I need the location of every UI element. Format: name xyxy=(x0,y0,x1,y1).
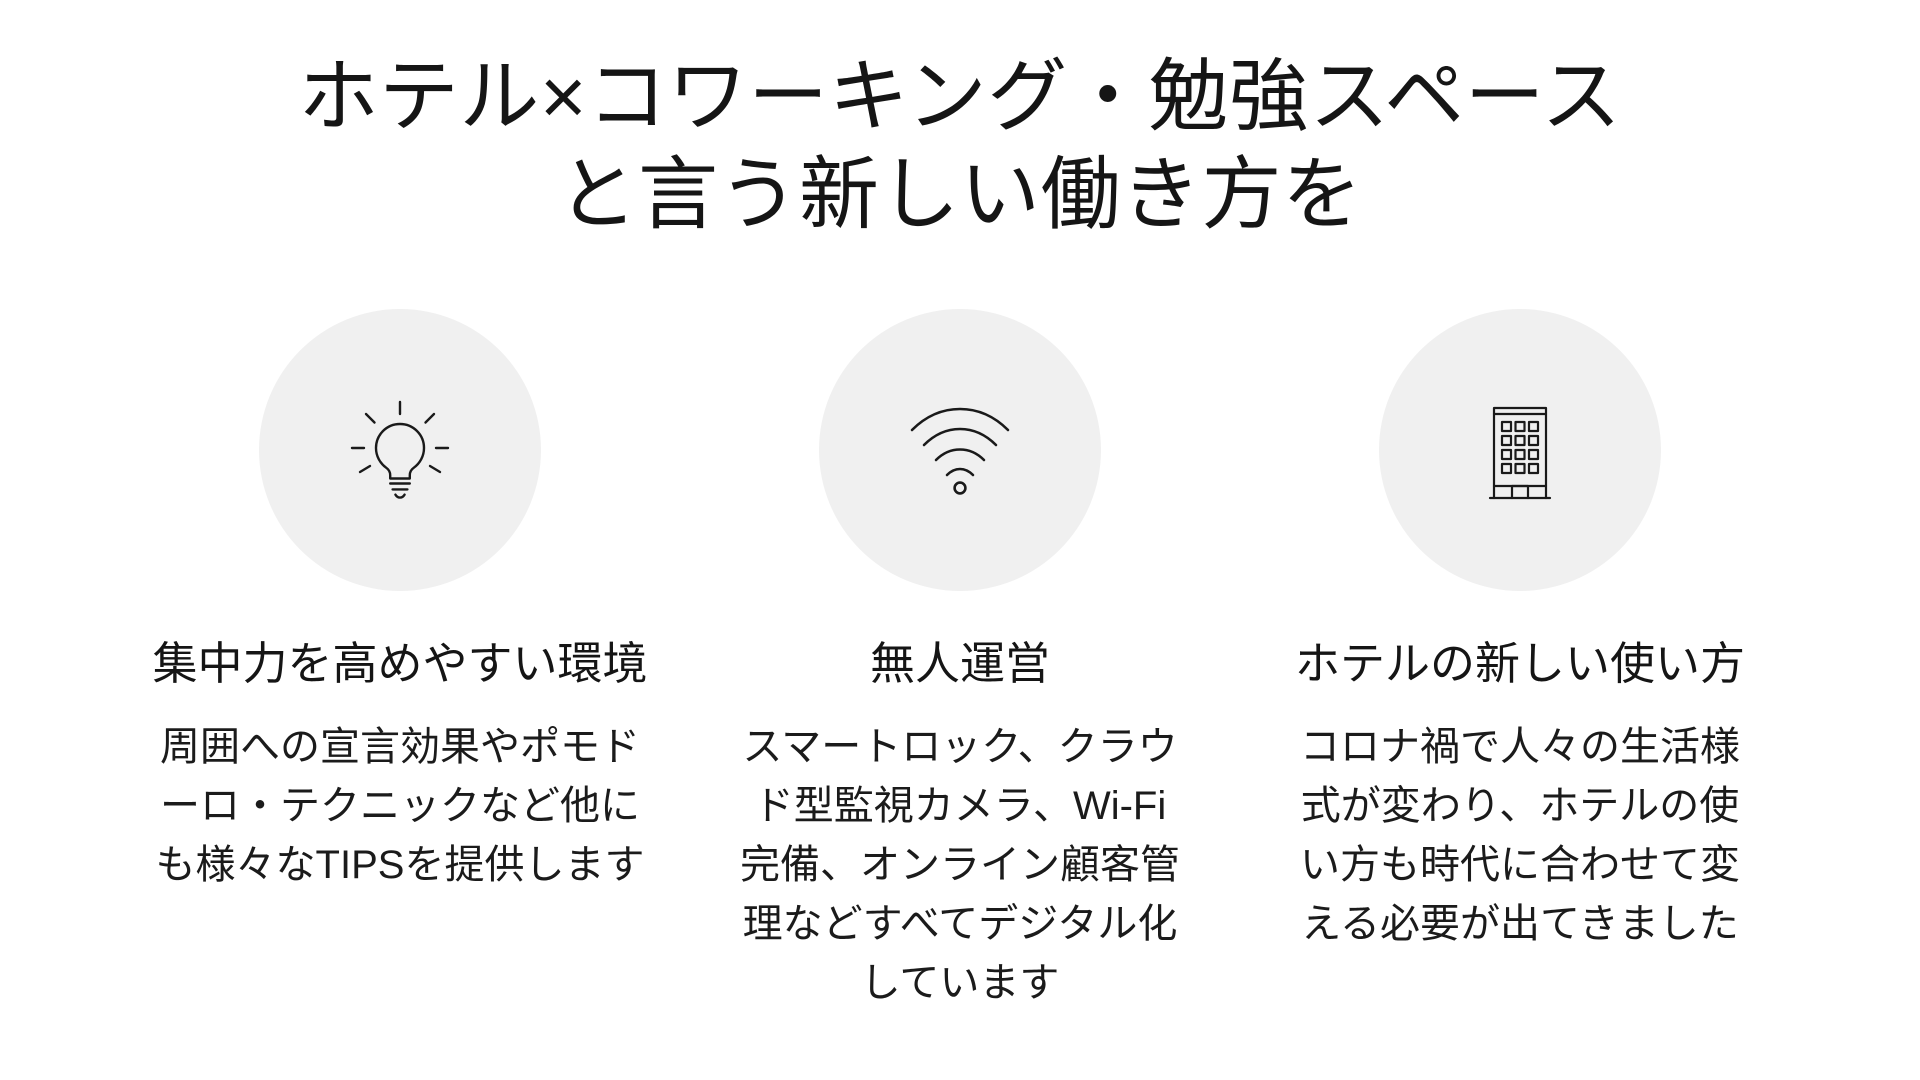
feature-card-body: 周囲への宣言効果やポモドーロ・テクニックなど他にも様々なTIPSを提供します xyxy=(150,718,650,896)
feature-card-concentration: 集中力を高めやすい環境 周囲への宣言効果やポモドーロ・テクニックなど他にも様々な… xyxy=(120,309,680,895)
feature-card-title: 無人運営 xyxy=(870,635,1050,694)
feature-card-body: スマートロック、クラウド型監視カメラ、Wi-Fi完備、オンライン顧客管理などすべ… xyxy=(738,718,1183,1014)
page-title-line-1: ホテル×コワーキング・勉強スペース xyxy=(298,48,1621,146)
feature-card-title: ホテルの新しい使い方 xyxy=(1295,635,1745,694)
icon-badge-hotel-building xyxy=(1379,309,1661,591)
page-title-line-2: と言う新しい働き方を xyxy=(298,146,1621,244)
hotel-building-icon xyxy=(1460,390,1580,510)
icon-badge-lightbulb xyxy=(259,309,541,591)
feature-card-body: コロナ禍で人々の生活様式が変わり、ホテルの使い方も時代に合わせて変える必要が出て… xyxy=(1295,718,1745,955)
feature-card-list: 集中力を高めやすい環境 周囲への宣言効果やポモドーロ・テクニックなど他にも様々な… xyxy=(50,309,1870,1013)
feature-card-hotel-new-usage: ホテルの新しい使い方 コロナ禍で人々の生活様式が変わり、ホテルの使い方も時代に合… xyxy=(1240,309,1800,954)
wifi-icon xyxy=(900,390,1020,510)
page-title: ホテル×コワーキング・勉強スペース と言う新しい働き方を xyxy=(278,48,1641,243)
icon-badge-wifi xyxy=(819,309,1101,591)
slide-root: ホテル×コワーキング・勉強スペース と言う新しい働き方を xyxy=(0,0,1920,1080)
feature-card-unmanned-operation: 無人運営 スマートロック、クラウド型監視カメラ、Wi-Fi完備、オンライン顧客管… xyxy=(680,309,1240,1013)
lightbulb-icon xyxy=(340,390,460,510)
feature-card-title: 集中力を高めやすい環境 xyxy=(152,635,647,694)
